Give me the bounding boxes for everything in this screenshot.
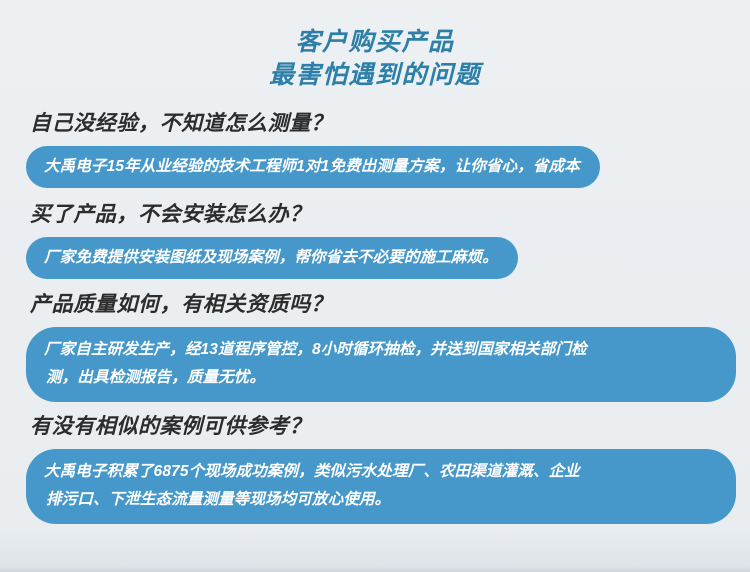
answer-1-line-1: 大禹电子15年从业经验的技术工程师1对1免费出测量方案，让你省心，省成本	[44, 158, 580, 175]
answer-3: 厂家自主研发生产，经13道程序管控，8小时循环抽检，并送到国家相关部门检 测，出…	[26, 327, 736, 402]
qa-list: 自己没经验，不知道怎么测量？ 大禹电子15年从业经验的技术工程师1对1免费出测量…	[0, 110, 750, 524]
title-line-1: 客户购买产品	[0, 26, 750, 59]
qa-block-4: 有没有相似的案例可供参考？ 大禹电子积累了6875个现场成功案例，类似污水处理厂…	[26, 413, 728, 524]
answer-2-line-1: 厂家免费提供安装图纸及现场案例，帮你省去不必要的施工麻烦。	[44, 249, 498, 266]
question-1: 自己没经验，不知道怎么测量？	[30, 110, 728, 138]
answer-3-line-2: 测，出具检测报告，质量无忧。	[44, 364, 714, 392]
qa-block-3: 产品质量如何，有相关资质吗？ 厂家自主研发生产，经13道程序管控，8小时循环抽检…	[26, 291, 728, 402]
answer-4-line-1: 大禹电子积累了6875个现场成功案例，类似污水处理厂、农田渠道灌溉、企业	[44, 458, 714, 486]
question-4: 有没有相似的案例可供参考？	[30, 413, 728, 441]
question-2: 买了产品，不会安装怎么办？	[30, 201, 728, 229]
answer-4: 大禹电子积累了6875个现场成功案例，类似污水处理厂、农田渠道灌溉、企业 排污口…	[26, 449, 736, 524]
qa-block-1: 自己没经验，不知道怎么测量？ 大禹电子15年从业经验的技术工程师1对1免费出测量…	[26, 110, 728, 188]
page-title: 客户购买产品 最害怕遇到的问题	[0, 0, 750, 92]
qa-block-2: 买了产品，不会安装怎么办？ 厂家免费提供安装图纸及现场案例，帮你省去不必要的施工…	[26, 201, 728, 279]
promo-page: 客户购买产品 最害怕遇到的问题 自己没经验，不知道怎么测量？ 大禹电子15年从业…	[0, 0, 750, 572]
question-3: 产品质量如何，有相关资质吗？	[30, 291, 728, 319]
title-line-2: 最害怕遇到的问题	[0, 59, 750, 92]
answer-4-line-2: 排污口、下泄生态流量测量等现场均可放心使用。	[44, 486, 714, 514]
answer-1: 大禹电子15年从业经验的技术工程师1对1免费出测量方案，让你省心，省成本	[26, 146, 600, 188]
answer-3-line-1: 厂家自主研发生产，经13道程序管控，8小时循环抽检，并送到国家相关部门检	[44, 336, 714, 364]
answer-2: 厂家免费提供安装图纸及现场案例，帮你省去不必要的施工麻烦。	[26, 237, 518, 279]
